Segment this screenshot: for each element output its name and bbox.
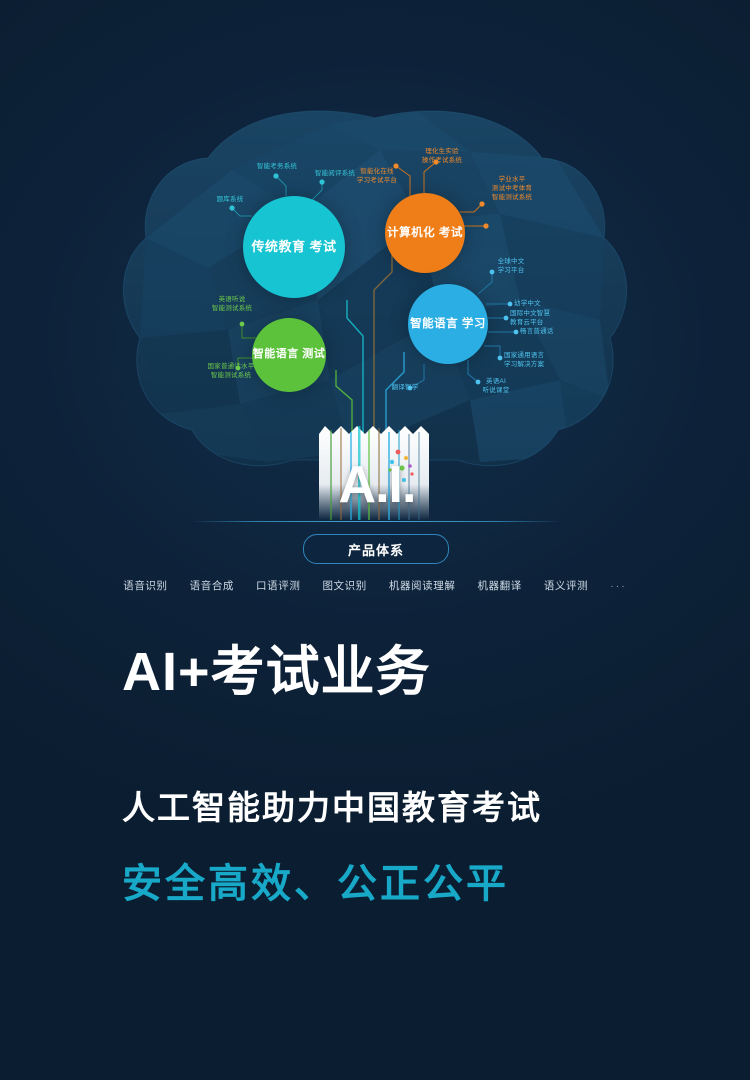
ai-wordmark-text: A.I. [318, 450, 436, 520]
node-traditional-education-exam-label: 传统教育 考试 [251, 239, 336, 255]
keyword-item: 语义评测 [544, 578, 588, 593]
subtitle-accent: 安全高效、公正公平 [0, 829, 750, 909]
node-intelligent-language-test-label: 智能语言 测试 [253, 348, 326, 362]
keyword-item: 语音识别 [123, 578, 167, 593]
promo-banner: 传统教育 考试 计算机化 考试 智能语言 学习 智能语言 测试 智能考务系统 智… [0, 0, 750, 1080]
label-physics-chemistry-biology-lab-exam-system: 理化生实验 操作考试系统 [404, 148, 480, 166]
label-global-chinese-learning-platform: 全球中文 学习平台 [480, 258, 542, 276]
headline-block: AI+考试业务 人工智能助力中国教育考试 安全高效、公正公平 [0, 640, 750, 909]
node-intelligent-language-test[interactable]: 智能语言 测试 [252, 318, 326, 392]
capability-keyword-list: 语音识别 语音合成 口语评测 图文识别 机器阅读理解 机器翻译 语义评测 ··· [0, 578, 750, 593]
keyword-item: 机器阅读理解 [389, 578, 456, 593]
product-system-badge[interactable]: 产品体系 [303, 534, 449, 564]
label-translation-smart-learning: 翻译智学 [378, 384, 432, 393]
keyword-item: 口语评测 [256, 578, 300, 593]
label-academic-level-pe-test-system: 学业水平 测试中考体育 智能测试系统 [470, 176, 554, 202]
label-question-bank-system: 题库系统 [200, 196, 260, 205]
label-international-chinese-smart-education-cloud: 国际中文智慧 教育云平台 [510, 310, 580, 328]
label-youth-chinese: 幼学中文 [514, 300, 576, 309]
label-national-putonghua-proficiency-test-system: 国家普通话水平 智能测试系统 [190, 363, 272, 381]
node-computerized-exam[interactable]: 计算机化 考试 [385, 193, 465, 273]
brain-tree-illustration: 传统教育 考试 计算机化 考试 智能语言 学习 智能语言 测试 智能考务系统 智… [0, 0, 750, 620]
node-intelligent-language-learning-label: 智能语言 学习 [410, 317, 486, 331]
label-changyan-putonghua: 畅言普通话 [520, 328, 582, 337]
keyword-item: 图文识别 [322, 578, 366, 593]
label-english-listening-speaking-test-system: 英语听说 智能测试系统 [196, 296, 268, 314]
label-english-ai-listening-speaking-class: 英语AI 听说课堂 [468, 378, 524, 396]
ground-line [190, 521, 562, 522]
label-national-language-learning-solution: 国家通用语言 学习解决方案 [504, 352, 578, 370]
page-title: AI+考试业务 [0, 640, 750, 705]
node-traditional-education-exam[interactable]: 传统教育 考试 [243, 196, 345, 298]
keyword-item-ellipsis: ··· [610, 580, 627, 592]
product-system-badge-label: 产品体系 [348, 540, 404, 559]
node-intelligent-language-learning[interactable]: 智能语言 学习 [408, 284, 488, 364]
keyword-item: 语音合成 [190, 578, 234, 593]
node-computerized-exam-label: 计算机化 考试 [387, 226, 463, 240]
label-online-learning-exam-platform: 智能化在线 学习考试平台 [340, 168, 414, 186]
ai-wordmark: A.I. [318, 420, 436, 520]
subtitle-primary: 人工智能助力中国教育考试 [0, 705, 750, 829]
keyword-item: 机器翻译 [477, 578, 521, 593]
brain-polygon-graphic [0, 0, 750, 620]
